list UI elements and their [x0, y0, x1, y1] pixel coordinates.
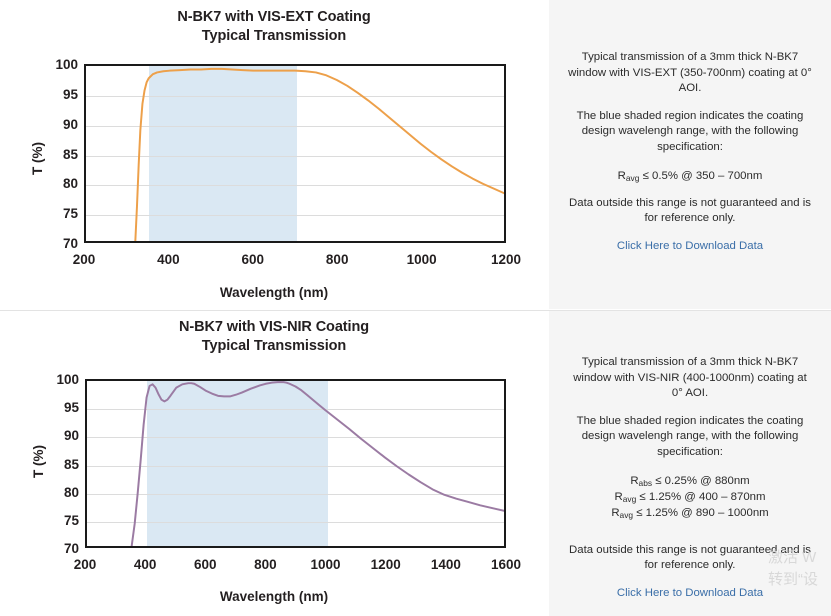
chart-title-line2: Typical Transmission — [0, 27, 548, 46]
y-axis-tick-label: 70 — [42, 237, 78, 251]
spec-line: Rabs ≤ 0.25% @ 880nm — [567, 473, 813, 489]
x-axis-tick-label: 1400 — [416, 558, 476, 572]
spec-subscript: avg — [626, 173, 640, 183]
y-axis-tick-label: 85 — [43, 458, 79, 472]
y-axis-tick-label: 75 — [42, 207, 78, 221]
info-paragraph-shaded-region: The blue shaded region indicates the coa… — [567, 109, 813, 156]
y-axis-tick-label: 100 — [43, 373, 79, 387]
spec-subscript: abs — [639, 478, 653, 488]
x-axis-tick-label: 800 — [235, 558, 295, 572]
x-axis-tick-label: 800 — [307, 253, 367, 267]
spec-list-vis-ext: Ravg ≤ 0.5% @ 350 – 700nm — [567, 168, 813, 184]
x-axis-tick-label: 1200 — [476, 253, 536, 267]
spec-symbol: R — [611, 507, 619, 519]
y-axis-tick-label: 80 — [42, 177, 78, 191]
x-axis-tick-label: 1200 — [356, 558, 416, 572]
y-axis-title: T (%) — [31, 445, 46, 478]
curve-path — [132, 382, 504, 546]
x-axis-tick-label: 200 — [55, 558, 115, 572]
info-paragraph-shaded-region: The blue shaded region indicates the coa… — [567, 414, 813, 461]
y-axis-tick-label: 80 — [43, 486, 79, 500]
y-axis-tick-label: 100 — [42, 58, 78, 72]
spec-symbol: R — [618, 170, 626, 182]
x-axis-tick-label: 1600 — [476, 558, 536, 572]
x-axis-title: Wavelength (nm) — [0, 589, 548, 604]
x-axis-tick-label: 1000 — [392, 253, 452, 267]
chart-title-line1: N-BK7 with VIS-EXT Coating — [0, 8, 548, 27]
download-data-link[interactable]: Click Here to Download Data — [617, 586, 763, 602]
spec-list-vis-nir: Rabs ≤ 0.25% @ 880nm Ravg ≤ 1.25% @ 400 … — [567, 473, 813, 521]
plot-area-vis-ext — [84, 64, 506, 243]
download-data-link[interactable]: Click Here to Download Data — [617, 239, 763, 255]
chart-title-line1: N-BK7 with VIS-NIR Coating — [0, 318, 548, 337]
spec-value: ≤ 0.25% @ 880nm — [652, 475, 750, 487]
plot-area-vis-nir — [85, 379, 506, 548]
y-axis-tick-label: 70 — [43, 542, 79, 556]
chart-title-vis-nir: N-BK7 with VIS-NIR Coating Typical Trans… — [0, 318, 548, 356]
chart-title-vis-ext: N-BK7 with VIS-EXT Coating Typical Trans… — [0, 8, 548, 46]
screenshot-root: N-BK7 with VIS-EXT Coating Typical Trans… — [0, 0, 831, 616]
y-axis-title: T (%) — [30, 142, 45, 175]
x-axis-tick-label: 1000 — [296, 558, 356, 572]
y-axis-tick-label: 85 — [42, 148, 78, 162]
plot-frame — [85, 379, 506, 548]
spec-line: Ravg ≤ 1.25% @ 400 – 870nm — [567, 489, 813, 505]
spec-symbol: R — [614, 491, 622, 503]
spec-value: ≤ 1.25% @ 400 – 870nm — [636, 491, 765, 503]
y-axis-tick-label: 95 — [42, 88, 78, 102]
info-paragraph-description: Typical transmission of a 3mm thick N-BK… — [567, 50, 813, 97]
y-axis-tick-label: 90 — [42, 118, 78, 132]
x-axis-tick-label: 600 — [223, 253, 283, 267]
transmission-curve — [86, 66, 504, 241]
spec-line: Ravg ≤ 0.5% @ 350 – 700nm — [567, 168, 813, 184]
info-paragraph-disclaimer: Data outside this range is not guarantee… — [567, 196, 813, 227]
info-panel-vis-nir: Typical transmission of a 3mm thick N-BK… — [549, 311, 831, 616]
x-axis-tick-label: 200 — [54, 253, 114, 267]
transmission-curve — [87, 381, 504, 546]
chart-title-line2: Typical Transmission — [0, 337, 548, 356]
info-paragraph-description: Typical transmission of a 3mm thick N-BK… — [567, 355, 813, 402]
info-panel-vis-ext: Typical transmission of a 3mm thick N-BK… — [549, 0, 831, 309]
spec-line: Ravg ≤ 1.25% @ 890 – 1000nm — [567, 505, 813, 521]
info-body-vis-ext: Typical transmission of a 3mm thick N-BK… — [567, 50, 813, 254]
x-axis-tick-label: 600 — [175, 558, 235, 572]
spec-value: ≤ 1.25% @ 890 – 1000nm — [633, 507, 769, 519]
spec-subscript: avg — [623, 494, 637, 504]
y-axis-tick-label: 75 — [43, 514, 79, 528]
spec-subscript: avg — [620, 510, 634, 520]
curve-path — [135, 69, 504, 241]
spec-symbol: R — [630, 475, 638, 487]
x-axis-tick-label: 400 — [138, 253, 198, 267]
y-axis-tick-label: 95 — [43, 401, 79, 415]
info-paragraph-disclaimer: Data outside this range is not guarantee… — [567, 543, 813, 574]
spec-value: ≤ 0.5% @ 350 – 700nm — [639, 170, 762, 182]
info-body-vis-nir: Typical transmission of a 3mm thick N-BK… — [567, 355, 813, 601]
x-axis-title: Wavelength (nm) — [0, 285, 548, 300]
y-axis-tick-label: 90 — [43, 429, 79, 443]
x-axis-tick-label: 400 — [115, 558, 175, 572]
plot-frame — [84, 64, 506, 243]
